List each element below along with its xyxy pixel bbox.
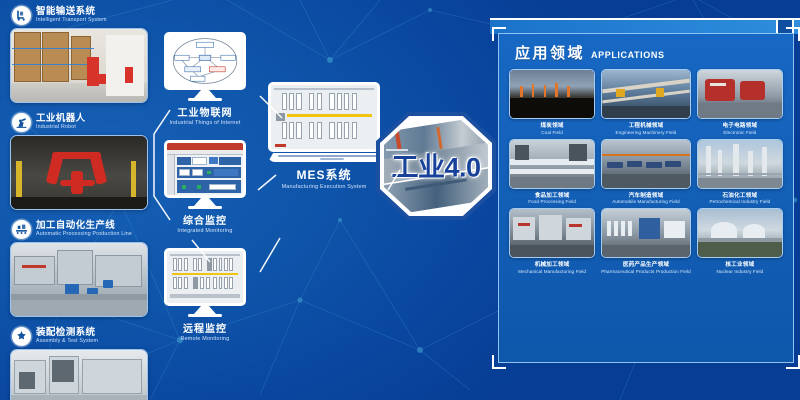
monitor-stand	[194, 198, 216, 206]
robot-arm-icon	[12, 113, 31, 132]
monitor-base	[188, 314, 222, 317]
tile-image-petrochemical	[697, 139, 783, 189]
application-tile[interactable]: 食品加工领域 Food Processing Field	[509, 139, 595, 205]
sidebar-item-automatic-production-line[interactable]: 加工自动化生产线 Automatic Processing Production…	[6, 216, 156, 317]
tile-image-pharmaceutical	[601, 208, 691, 258]
monitor-stand	[194, 306, 216, 314]
sidebar-item-title-zh: 装配检测系统	[36, 328, 98, 338]
tile-title-en: Pharmaceutical Products Production Field	[601, 269, 691, 274]
sidebar-item-title-zh: 工业机器人	[36, 114, 86, 124]
production-line-icon	[12, 220, 31, 239]
tile-title-zh: 工程机械领域	[601, 121, 691, 129]
application-tile[interactable]: 医药产品生产领域 Pharmaceutical Products Product…	[601, 208, 691, 274]
panel-corner-bottom-left	[492, 355, 506, 369]
application-tile[interactable]: 工程机械领域 Engineering Machinery Field	[601, 69, 691, 135]
tile-title-zh: 石油化工领域	[697, 191, 783, 199]
tile-title-zh: 核工业领域	[697, 260, 783, 268]
tile-image-food	[509, 139, 595, 189]
sidebar-item-title-zh: 智能输送系统	[36, 7, 107, 17]
sidebar-item-industrial-robot[interactable]: 工业机器人 Industrial Robot	[6, 109, 156, 210]
node-title-en: Remote Monitoring	[164, 336, 246, 342]
tile-title-en: Food Processing Field	[509, 199, 595, 204]
panel-title-en: APPLICATIONS	[591, 50, 665, 60]
node-caption: MES系统 Manufacturing Execution System	[268, 166, 380, 190]
plc-rack-view	[167, 251, 243, 303]
sidebar-item-title-en: Industrial Robot	[36, 125, 86, 131]
tile-title-en: Mechanical Manufacturing Field	[509, 269, 595, 274]
forklift-icon	[12, 6, 31, 25]
card-header: 智能输送系统 Intelligent Transport System	[6, 2, 156, 28]
application-tile[interactable]: 汽车制造领域 Automobile Manufacturing Field	[601, 139, 691, 205]
panel-corner-top-left	[492, 27, 506, 41]
system-flow-diagram: 工业物联网 Industrial Things of Internet	[150, 0, 500, 400]
tile-title-zh: 食品加工领域	[509, 191, 595, 199]
sidebar-item-title-zh: 加工自动化生产线	[36, 221, 132, 231]
tile-image-nuclear	[697, 208, 783, 258]
card-header: 加工自动化生产线 Automatic Processing Production…	[6, 216, 156, 242]
node-title-zh: 综合监控	[164, 212, 246, 227]
monitor-screen	[164, 248, 246, 306]
assembly-test-icon	[12, 327, 31, 346]
tile-title-en: Nuclear Industry Field	[697, 269, 783, 274]
systems-sidebar: 智能输送系统 Intelligent Transport System	[6, 2, 156, 400]
application-tile[interactable]: 电子电路领域 Electronic Field	[697, 69, 783, 135]
card-header: 装配检测系统 Assembly & Test System	[6, 323, 156, 349]
node-title-en: Industrial Things of Internet	[164, 120, 246, 126]
node-title-zh: 工业物联网	[164, 104, 246, 119]
panel-corner-top-right	[786, 27, 800, 41]
infographic-canvas: 智能输送系统 Intelligent Transport System	[0, 0, 800, 400]
panel-corner-bottom-right	[786, 355, 800, 369]
node-caption: 综合监控 Integrated Monitoring	[164, 212, 246, 234]
tile-title-zh: 医药产品生产领域	[601, 260, 691, 268]
sidebar-item-title-en: Assembly & Test System	[36, 339, 98, 345]
tile-title-zh: 汽车制造领域	[601, 191, 691, 199]
industry-40-badge[interactable]: 工业4.0	[376, 112, 496, 220]
monitor-screen	[164, 140, 246, 198]
node-industrial-iot[interactable]: 工业物联网 Industrial Things of Internet	[164, 32, 246, 126]
application-tile[interactable]: 核工业领域 Nuclear Industry Field	[697, 208, 783, 274]
tile-title-zh: 机械加工领域	[509, 260, 595, 268]
tile-image-mechanical	[509, 208, 595, 258]
tile-title-en: Coal Field	[509, 130, 595, 135]
tile-image-engineering	[601, 69, 691, 119]
monitor-base	[188, 98, 222, 101]
tile-image-automobile	[601, 139, 691, 189]
monitor-base	[188, 206, 222, 209]
tile-title-zh: 煤炭领域	[509, 121, 595, 129]
monitor-screen	[164, 32, 246, 90]
node-caption: 工业物联网 Industrial Things of Internet	[164, 104, 246, 126]
red-robot-arm-photo	[10, 135, 148, 210]
node-integrated-monitoring[interactable]: 综合监控 Integrated Monitoring	[164, 140, 246, 234]
applications-grid: 煤炭领域 Coal Field 工程机械领域 Engineering Machi…	[499, 69, 793, 274]
panel-header: 应用领域 APPLICATIONS	[499, 34, 793, 69]
badge-label: 工业4.0	[376, 146, 496, 185]
application-tile[interactable]: 石油化工领域 Petrochemical Industry Field	[697, 139, 783, 205]
panel-title-zh: 应用领域	[515, 42, 585, 63]
monitor-stand	[194, 90, 216, 98]
node-title-en: Integrated Monitoring	[164, 228, 246, 234]
warehouse-forklift-photo	[10, 28, 148, 103]
node-mes-system[interactable]: MES系统 Manufacturing Execution System	[268, 82, 380, 190]
node-title-zh: MES系统	[268, 166, 380, 183]
node-title-zh: 远程监控	[164, 320, 246, 335]
network-topology-diagram	[167, 35, 243, 87]
tile-title-zh: 电子电路领域	[697, 121, 783, 129]
mes-rack-view	[271, 85, 377, 149]
tile-title-en: Petrochemical Industry Field	[697, 199, 783, 204]
automated-production-line-photo	[10, 242, 148, 317]
scada-dashboard	[167, 143, 243, 195]
sidebar-item-title-en: Intelligent Transport System	[36, 18, 107, 24]
node-remote-monitoring[interactable]: 远程监控 Remote Monitoring	[164, 248, 246, 342]
assembly-test-line-photo	[10, 349, 148, 400]
application-tile[interactable]: 煤炭领域 Coal Field	[509, 69, 595, 135]
sidebar-item-title-en: Automatic Processing Production Line	[36, 232, 132, 238]
node-caption: 远程监控 Remote Monitoring	[164, 320, 246, 342]
top-accent-strip	[490, 18, 800, 34]
tile-image-electronic	[697, 69, 783, 119]
tile-title-en: Electronic Field	[697, 130, 783, 135]
application-tile[interactable]: 机械加工领域 Mechanical Manufacturing Field	[509, 208, 595, 274]
card-header: 工业机器人 Industrial Robot	[6, 109, 156, 135]
sidebar-item-intelligent-transport[interactable]: 智能输送系统 Intelligent Transport System	[6, 2, 156, 103]
tile-image-coal	[509, 69, 595, 119]
tile-title-en: Automobile Manufacturing Field	[601, 199, 691, 204]
node-title-en: Manufacturing Execution System	[268, 184, 380, 190]
applications-panel: 应用领域 APPLICATIONS 煤炭领域 Coal Field	[498, 33, 794, 363]
tile-title-en: Engineering Machinery Field	[601, 130, 691, 135]
sidebar-item-assembly-test[interactable]: 装配检测系统 Assembly & Test System	[6, 323, 156, 400]
laptop-screen	[268, 82, 380, 152]
